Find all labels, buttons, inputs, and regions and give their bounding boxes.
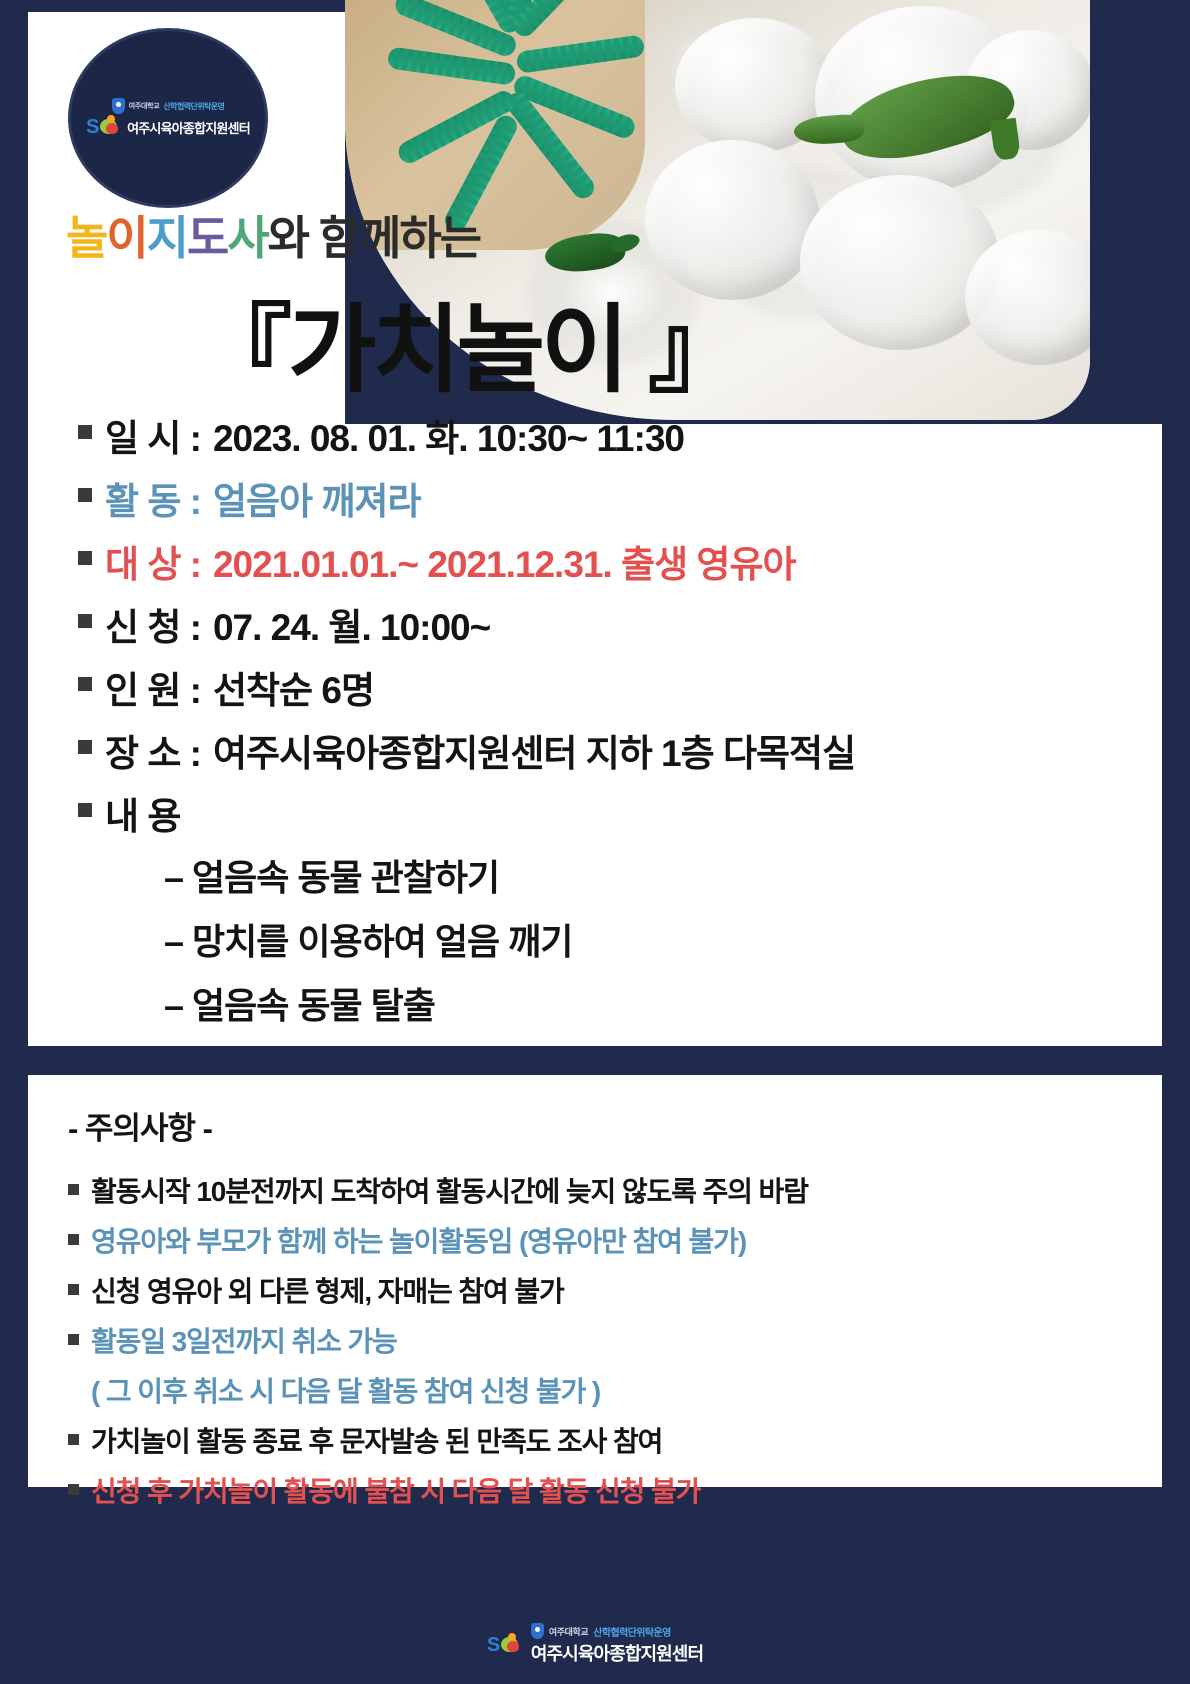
logo-letter-s: S (86, 117, 99, 137)
content-sub-list: – 얼음속 동물 관찰하기 – 망치를 이용하여 얼음 깨기 – 얼음속 동물 … (164, 849, 1150, 1029)
footer-center-name: 여주시육아종합지원센터 (531, 1640, 703, 1666)
info-label: 인 원 : (105, 660, 201, 714)
bullet-square-icon (68, 1234, 79, 1245)
notice-item: 활동시작 10분전까지 도착하여 활동시간에 늦지 않도록 주의 바람 (68, 1170, 1128, 1210)
logo-entrust-text: 산학협력단위탁운영 (163, 101, 224, 112)
info-value: 07. 24. 월. 10:00~ (213, 597, 490, 651)
bullet-square-icon (78, 551, 92, 565)
notice-item: 영유아와 부모가 함께 하는 놀이활동임 (영유아만 참여 불가) (68, 1220, 1128, 1260)
notice-item: 신청 영유아 외 다른 형제, 자매는 참여 불가 (68, 1270, 1128, 1310)
bullet-square-icon (68, 1284, 79, 1295)
notice-item: 신청 후 가치놀이 활동에 불참 시 다음 달 활동 신청 불가 (68, 1470, 1128, 1510)
info-label: 일 시 : (105, 408, 201, 462)
logo-university-name: 여주대학교 (129, 101, 160, 111)
notice-item-text: 신청 후 가치놀이 활동에 불참 시 다음 달 활동 신청 불가 (91, 1470, 700, 1510)
headline-rest: 와 함께하는 (268, 212, 480, 264)
sc-mark-icon: S (487, 1634, 525, 1656)
notice-item-text: 영유아와 부모가 함께 하는 놀이활동임 (영유아만 참여 불가) (91, 1220, 746, 1260)
info-row-activity: 활 동 : 얼음아 깨져라 (78, 471, 1150, 525)
notice-sub-line: ( 그 이후 취소 시 다음 달 활동 참여 신청 불가 ) (91, 1370, 1128, 1410)
info-row-capacity: 인 원 : 선착순 6명 (78, 660, 1150, 714)
notice-item-text: 가치놀이 활동 종료 후 문자발송 된 만족도 조사 참여 (91, 1420, 662, 1460)
sc-mark-icon: S (86, 116, 124, 138)
logo-heart-red (507, 1641, 519, 1652)
notice-item-text: 신청 영유아 외 다른 형제, 자매는 참여 불가 (91, 1270, 564, 1310)
headline-char-5: 사 (227, 212, 267, 264)
info-list: 일 시 : 2023. 08. 01. 화. 10:30~ 11:30 활 동 … (78, 408, 1150, 1041)
info-label: 신 청 : (105, 597, 201, 651)
shield-icon (531, 1623, 544, 1639)
content-item: – 얼음속 동물 관찰하기 (164, 849, 1150, 901)
logo-letter-s: S (487, 1635, 500, 1655)
info-value: 여주시육아종합지원센터 지하 1층 다목적실 (213, 723, 855, 777)
center-logo-badge: 여주대학교 산학협력단위탁운영 S 여주시육아종합지원센터 (68, 28, 268, 208)
notice-item-text: 활동시작 10분전까지 도착하여 활동시간에 늦지 않도록 주의 바람 (91, 1170, 808, 1210)
info-label: 활 동 : (105, 471, 201, 525)
logo-center-name: 여주시육아종합지원센터 (127, 118, 250, 137)
headline-char-2: 이 (106, 212, 146, 264)
bullet-square-icon (78, 677, 92, 691)
info-value: 2023. 08. 01. 화. 10:30~ 11:30 (213, 408, 684, 462)
info-row-target: 대 상 : 2021.01.01.~ 2021.12.31. 출생 영유아 (78, 534, 1150, 588)
bullet-square-icon (78, 740, 92, 754)
content-item: – 얼음속 동물 탈출 (164, 977, 1150, 1029)
notice-item: 가치놀이 활동 종료 후 문자발송 된 만족도 조사 참여 (68, 1420, 1128, 1460)
bullet-square-icon (68, 1484, 79, 1495)
bullet-square-icon (78, 425, 92, 439)
headline-char-1: 놀 (66, 212, 106, 264)
info-row-datetime: 일 시 : 2023. 08. 01. 화. 10:30~ 11:30 (78, 408, 1150, 462)
logo-heart-red (106, 123, 118, 134)
shield-icon (112, 98, 125, 114)
info-row-place: 장 소 : 여주시육아종합지원센터 지하 1층 다목적실 (78, 723, 1150, 777)
bullet-square-icon (78, 614, 92, 628)
info-row-content: 내 용 (78, 786, 1150, 840)
notice-card: - 주의사항 - 활동시작 10분전까지 도착하여 활동시간에 늦지 않도록 주… (28, 1075, 1162, 1487)
footer-entrust-text: 산학협력단위탁운영 (593, 1624, 670, 1639)
info-label: 내 용 (105, 786, 180, 840)
headline: 놀이지도사와 함께하는 (66, 202, 480, 268)
notice-item: 활동일 3일전까지 취소 가능 (68, 1320, 1128, 1360)
headline-char-4: 도 (187, 212, 227, 264)
bullet-square-icon (68, 1334, 79, 1345)
headline-char-3: 지 (147, 212, 187, 264)
footer-top-row: 여주대학교 산학협력단위탁운영 (531, 1623, 671, 1639)
bullet-square-icon (78, 488, 92, 502)
content-item: – 망치를 이용하여 얼음 깨기 (164, 913, 1150, 965)
info-row-apply: 신 청 : 07. 24. 월. 10:00~ (78, 597, 1150, 651)
logo-dot-orange (508, 1633, 516, 1641)
info-label: 장 소 : (105, 723, 201, 777)
footer-text-column: 여주대학교 산학협력단위탁운영 여주시육아종합지원센터 (531, 1623, 703, 1666)
footer-university-name: 여주대학교 (549, 1625, 588, 1638)
page-title: 『가치놀이 』 (196, 272, 740, 411)
footer-logo: S 여주대학교 산학협력단위탁운영 여주시육아종합지원센터 (0, 1623, 1190, 1666)
bullet-square-icon (78, 803, 92, 817)
bullet-square-icon (68, 1184, 79, 1195)
info-value: 얼음아 깨져라 (213, 471, 421, 525)
footer-bottom-row: 여주시육아종합지원센터 (531, 1640, 703, 1666)
notice-item-text: 활동일 3일전까지 취소 가능 (91, 1320, 397, 1360)
notice-title: - 주의사항 - (68, 1103, 1128, 1148)
logo-bottom-row: S 여주시육아종합지원센터 (86, 116, 250, 138)
logo-top-row: 여주대학교 산학협력단위탁운영 (112, 98, 225, 114)
info-label: 대 상 : (105, 534, 201, 588)
info-value: 선착순 6명 (213, 660, 374, 714)
bullet-square-icon (68, 1434, 79, 1445)
info-value: 2021.01.01.~ 2021.12.31. 출생 영유아 (213, 534, 796, 588)
